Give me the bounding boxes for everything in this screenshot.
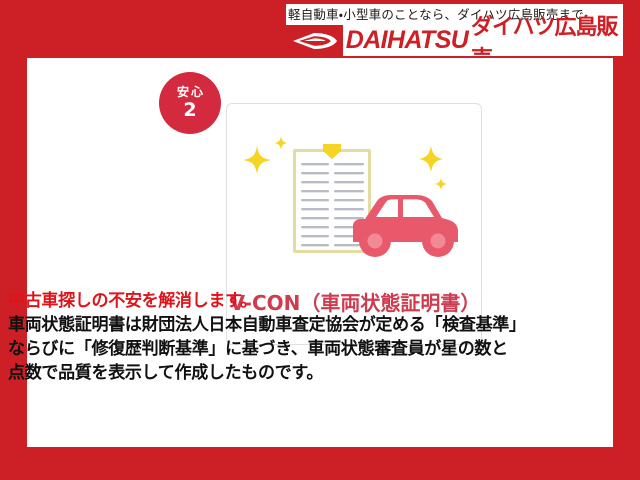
description-headline: 中古車探しの不安を解消します。 bbox=[8, 289, 586, 313]
brand-latin-wordmark: DAIHATSU bbox=[343, 25, 471, 56]
anshin-badge: 安心 2 bbox=[159, 72, 221, 134]
brand-japanese-wordmark: ダイハツ広島販売 bbox=[471, 25, 623, 56]
sparkle-icon bbox=[243, 146, 271, 174]
vcon-illustration bbox=[235, 122, 475, 272]
anshin-badge-number: 2 bbox=[183, 100, 196, 121]
header-logo-plate: 軽自動車・小型車のことなら、ダイハツ広島販売まで DAIHATSU ダイハツ広島… bbox=[286, 4, 623, 56]
daihatsu-d-mark-icon bbox=[286, 25, 343, 56]
description-line-3: 点数で品質を表示して作成したものです。 bbox=[8, 361, 586, 385]
header: 軽自動車・小型車のことなら、ダイハツ広島販売まで DAIHATSU ダイハツ広島… bbox=[0, 0, 640, 58]
brand-lockup: DAIHATSU ダイハツ広島販売 bbox=[286, 25, 623, 56]
description-block: 中古車探しの不安を解消します。 車両状態証明書は財団法人日本自動車査定協会が定め… bbox=[8, 289, 586, 385]
description-line-1: 車両状態証明書は財団法人日本自動車査定協会が定める「検査基準」 bbox=[8, 313, 586, 337]
description-line-2: ならびに「修復歴判断基準」に基づき、車両状態審査員が星の数と bbox=[8, 337, 586, 361]
promo-page: 軽自動車・小型車のことなら、ダイハツ広島販売まで DAIHATSU ダイハツ広島… bbox=[0, 0, 640, 480]
anshin-badge-label: 安心 bbox=[177, 85, 205, 100]
content-card: 安心 2 bbox=[27, 58, 613, 447]
